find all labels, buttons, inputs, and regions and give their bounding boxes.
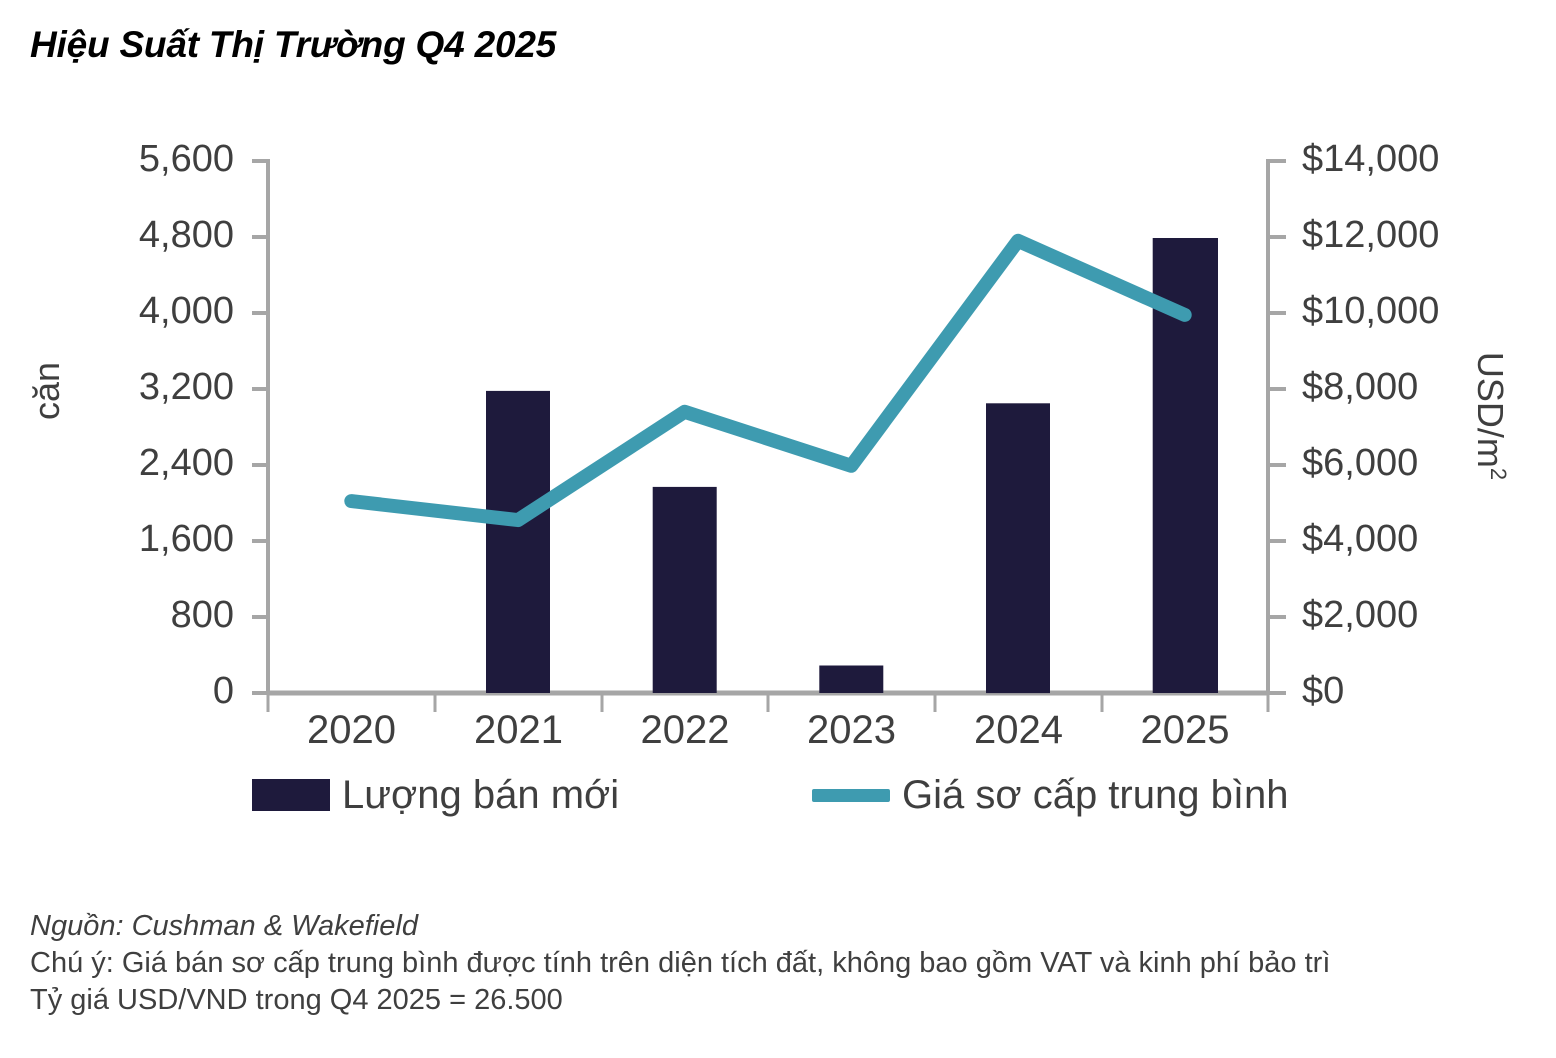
bar-2022 (819, 666, 883, 694)
right-axis-tick-8000: $8,000 (1302, 368, 1418, 406)
legend-bar-swatch-icon (252, 779, 330, 811)
x-axis-label-2021: 2021 (435, 708, 602, 753)
right-axis (1268, 159, 1286, 693)
x-axis-label-2020: 2020 (268, 708, 435, 753)
legend-line-swatch-icon (812, 789, 890, 802)
legend-item-average-price[interactable]: Giá sơ cấp trung bình (812, 775, 1288, 815)
right-axis-tick-2000: $2,000 (1302, 596, 1418, 634)
left-axis-title: căn (26, 311, 68, 471)
footnote-source: Nguồn: Cushman & Wakefield (30, 908, 1530, 945)
left-axis-tick-4800: 4,800 (139, 216, 234, 254)
left-axis-tick-3200: 3,200 (139, 368, 234, 406)
plot-area: 5,600 4,800 4,000 3,200 2,400 1,600 800 … (0, 0, 1556, 760)
line-series (351, 241, 1184, 520)
right-axis-tick-6000: $6,000 (1302, 444, 1418, 482)
left-axis-tick-2400: 2,400 (139, 444, 234, 482)
chart-container: Hiệu Suất Thị Trường Q4 2025 (0, 0, 1556, 1058)
legend-item-new-sales[interactable]: Lượng bán mới (252, 775, 619, 815)
footnote-note-2: Tỷ giá USD/VND trong Q4 2025 = 26.500 (30, 982, 1530, 1019)
legend-label-average-price: Giá sơ cấp trung bình (902, 775, 1288, 815)
x-axis-label-2025: 2025 (1102, 708, 1268, 753)
right-axis-tick-4000: $4,000 (1302, 520, 1418, 558)
left-axis-tick-5600: 5,600 (139, 140, 234, 178)
x-axis-label-2023: 2023 (768, 708, 935, 753)
bar-2020 (486, 391, 550, 693)
left-axis-tick-1600: 1,600 (139, 520, 234, 558)
chart-footnotes: Nguồn: Cushman & Wakefield Chú ý: Giá bá… (30, 908, 1530, 1019)
chart-legend: Lượng bán mới Giá sơ cấp trung bình (0, 775, 1556, 831)
left-axis (252, 159, 268, 693)
left-axis-tick-0: 0 (213, 672, 234, 710)
left-axis-tick-800: 800 (171, 596, 234, 634)
footnote-note-1: Chú ý: Giá bán sơ cấp trung bình được tí… (30, 945, 1530, 982)
right-axis-tick-0: $0 (1302, 672, 1344, 710)
bar-2021 (653, 487, 717, 693)
right-axis-title-text: USD/m (1470, 352, 1511, 468)
right-axis-tick-12000: $12,000 (1302, 216, 1439, 254)
right-axis-title-superscript: 2 (1486, 468, 1511, 480)
x-axis-label-2024: 2024 (935, 708, 1102, 753)
right-axis-tick-10000: $10,000 (1302, 292, 1439, 330)
x-axis-label-2022: 2022 (602, 708, 768, 753)
bar-2023 (986, 403, 1050, 693)
right-axis-title: USD/m2 (1469, 326, 1511, 506)
left-axis-tick-4000: 4,000 (139, 292, 234, 330)
legend-label-new-sales: Lượng bán mới (342, 775, 619, 815)
right-axis-tick-14000: $14,000 (1302, 140, 1439, 178)
